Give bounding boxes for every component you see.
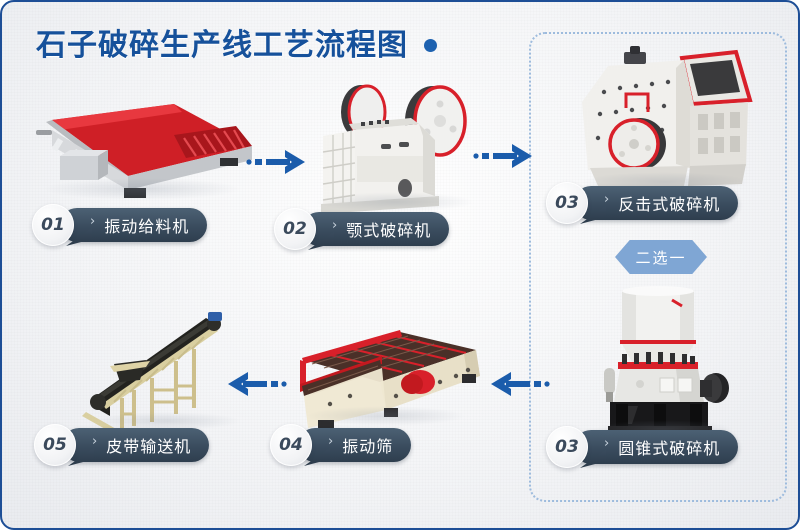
step-label-04[interactable]: 04 › 振动筛	[270, 428, 411, 462]
machine-impact-crusher	[564, 44, 764, 194]
arrow-screen-to-conveyor	[226, 370, 288, 402]
arrow-jaw-to-impact	[472, 142, 534, 174]
choose-one-label: 二选一	[635, 247, 686, 268]
machine-jaw-crusher	[307, 74, 487, 214]
step-name-pill-03-impact[interactable]: › 反击式破碎机	[574, 186, 738, 220]
step-label-03-cone[interactable]: 03 › 圆锥式破碎机	[546, 430, 738, 464]
page-title: 石子破碎生产线工艺流程图	[36, 20, 437, 64]
chevron-right-icon: ›	[332, 218, 338, 233]
cone-crusher-icon	[580, 284, 750, 440]
chevron-right-icon: ›	[604, 192, 610, 207]
step-name-03-cone: 圆锥式破碎机	[618, 435, 720, 459]
chevron-right-icon: ›	[90, 214, 96, 229]
step-number-05: 05	[34, 424, 76, 466]
step-number-02: 02	[274, 208, 316, 250]
step-name-03-impact: 反击式破碎机	[618, 191, 720, 215]
machine-cone-crusher	[580, 284, 750, 439]
chevron-right-icon: ›	[604, 436, 610, 451]
step-name-pill-04[interactable]: › 振动筛	[298, 428, 411, 462]
step-label-01[interactable]: 01 › 振动给料机	[32, 208, 207, 242]
arrow-cone-to-screen	[489, 370, 551, 402]
step-label-05[interactable]: 05 › 皮带输送机	[34, 428, 209, 462]
step-name-pill-05[interactable]: › 皮带输送机	[62, 428, 209, 462]
chevron-right-icon: ›	[328, 434, 334, 449]
step-number-03-impact: 03	[546, 182, 588, 224]
step-label-02[interactable]: 02 › 颚式破碎机	[274, 212, 449, 246]
machine-vibrating-feeder	[24, 90, 256, 200]
bullet-dot-icon	[424, 39, 437, 52]
step-number-01: 01	[32, 204, 74, 246]
step-label-03-impact[interactable]: 03 › 反击式破碎机	[546, 186, 738, 220]
step-name-01: 振动给料机	[104, 213, 189, 237]
machine-vibrating-screen	[290, 324, 485, 429]
choose-one-badge: 二选一	[615, 240, 707, 274]
step-name-02: 颚式破碎机	[346, 217, 431, 241]
page-title-text: 石子破碎生产线工艺流程图	[36, 20, 408, 64]
step-name-04: 振动筛	[342, 433, 393, 457]
step-number-04: 04	[270, 424, 312, 466]
arrow-feeder-to-jaw	[245, 148, 307, 180]
step-name-pill-01[interactable]: › 振动给料机	[60, 208, 207, 242]
step-name-pill-03-cone[interactable]: › 圆锥式破碎机	[574, 430, 738, 464]
machine-belt-conveyor	[74, 304, 264, 432]
step-name-pill-02[interactable]: › 颚式破碎机	[302, 212, 449, 246]
step-name-05: 皮带输送机	[106, 433, 191, 457]
flowchart-page: 石子破碎生产线工艺流程图	[0, 0, 800, 530]
step-number-03-cone: 03	[546, 426, 588, 468]
chevron-right-icon: ›	[92, 434, 98, 449]
